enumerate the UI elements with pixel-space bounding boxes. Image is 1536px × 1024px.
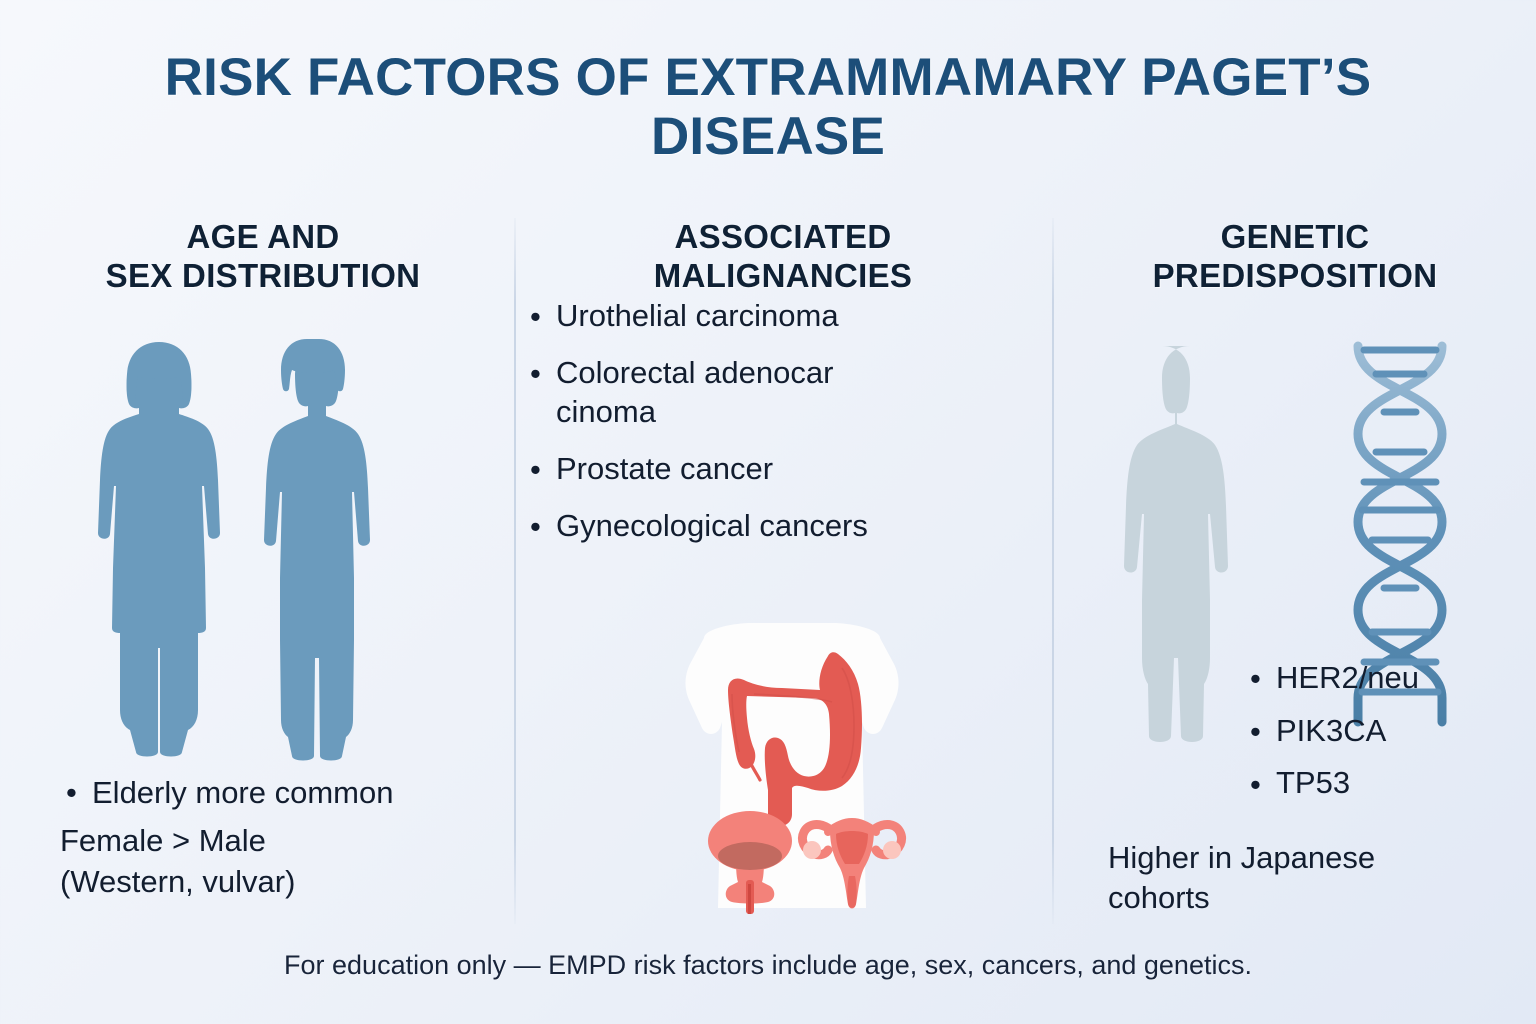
- list-item-label: Elderly more common: [92, 775, 393, 810]
- age-sex-figures: [90, 328, 440, 773]
- bullet-icon: •: [1250, 765, 1261, 805]
- genetics-list: • HER2/neu • PIK3CA • TP53: [1242, 658, 1536, 816]
- list-item-label: Colorectal adenocar cinoma: [556, 355, 833, 430]
- list-item: • Urothelial carcinoma: [522, 296, 1044, 336]
- heading-line-2: PREDISPOSITION: [1153, 257, 1438, 294]
- female-silhouette: [98, 342, 220, 757]
- people-silhouettes-svg: [90, 328, 440, 768]
- torso-shape: [686, 623, 899, 908]
- bullet-icon: •: [530, 450, 541, 490]
- footer-disclaimer: For education only — EMPD risk factors i…: [0, 950, 1536, 981]
- heading-line-1: ASSOCIATED: [675, 218, 892, 255]
- age-sex-subtext-line-2: (Western, vulvar): [58, 862, 518, 902]
- body-silhouette: [1124, 346, 1228, 742]
- bullet-icon: •: [530, 507, 541, 547]
- age-sex-text: • Elderly more common Female > Male (Wes…: [58, 773, 518, 902]
- list-item: • Gynecological cancers: [522, 506, 1044, 546]
- male-silhouette: [264, 339, 370, 761]
- genetics-note: Higher in Japanese cohorts: [1108, 838, 1528, 917]
- list-item: • PIK3CA: [1242, 711, 1536, 751]
- list-item-label: Gynecological cancers: [556, 508, 868, 543]
- column-genetics: GENETIC PREDISPOSITION: [1060, 218, 1530, 296]
- column-divider-right: [1052, 218, 1054, 924]
- age-sex-subtext-line-1: Female > Male: [58, 821, 518, 861]
- heading-line-1: AGE AND: [186, 218, 339, 255]
- heading-line-2: SEX DISTRIBUTION: [106, 257, 421, 294]
- list-item: • Colorectal adenocar cinoma: [522, 353, 886, 432]
- genetics-note-line-1: Higher in Japanese: [1108, 838, 1528, 878]
- list-item: • Elderly more common: [58, 773, 518, 813]
- torso-organs-illustration: [632, 618, 952, 923]
- list-item-label: Urothelial carcinoma: [556, 298, 839, 333]
- torso-organs-svg: [632, 618, 952, 918]
- list-item-label: TP53: [1276, 765, 1350, 800]
- infographic-poster: RISK FACTORS OF EXTRAMMAMARY PAGET’S DIS…: [0, 0, 1536, 1024]
- list-item: • Prostate cancer: [522, 449, 1044, 489]
- bullet-icon: •: [530, 354, 541, 394]
- column-heading-age-sex: AGE AND SEX DISTRIBUTION: [18, 218, 508, 296]
- column-age-sex: AGE AND SEX DISTRIBUTION: [18, 218, 508, 296]
- malignancies-list: • Urothelial carcinoma • Colorectal aden…: [522, 296, 1044, 545]
- bullet-icon: •: [66, 773, 77, 813]
- column-malignancies: ASSOCIATED MALIGNANCIES • Urothelial car…: [522, 218, 1044, 562]
- column-heading-malignancies: ASSOCIATED MALIGNANCIES: [522, 218, 1044, 296]
- list-item: • TP53: [1242, 763, 1536, 803]
- heading-line-1: GENETIC: [1221, 218, 1370, 255]
- column-heading-genetics: GENETIC PREDISPOSITION: [1060, 218, 1530, 296]
- bullet-icon: •: [1250, 659, 1261, 699]
- list-item-label: HER2/neu: [1276, 660, 1419, 695]
- list-item-label: PIK3CA: [1276, 713, 1386, 748]
- list-item-label: Prostate cancer: [556, 451, 773, 486]
- page-title: RISK FACTORS OF EXTRAMMAMARY PAGET’S DIS…: [60, 48, 1476, 167]
- bullet-icon: •: [1250, 712, 1261, 752]
- heading-line-2: MALIGNANCIES: [654, 257, 912, 294]
- bullet-icon: •: [530, 297, 541, 337]
- list-item: • HER2/neu: [1242, 658, 1536, 698]
- genetics-note-line-2: cohorts: [1108, 878, 1528, 918]
